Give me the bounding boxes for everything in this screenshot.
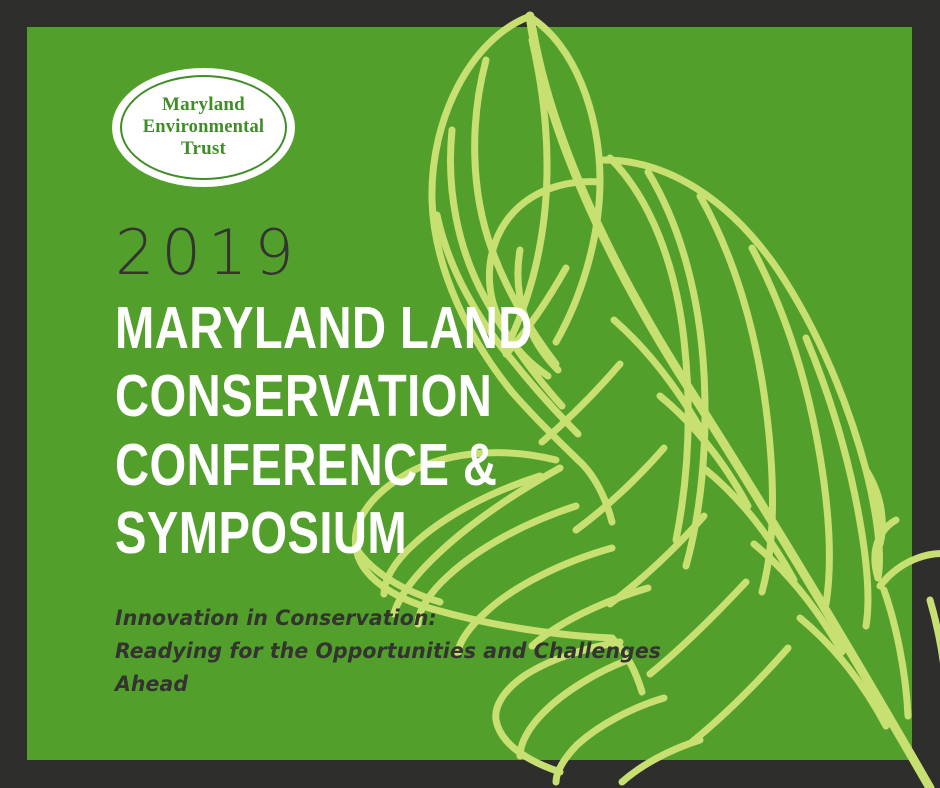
logo-text: Maryland Environmental Trust [113,69,294,186]
event-year: 2019 [115,222,755,284]
event-subtitle: Innovation in Conservation: Readying for… [115,602,723,702]
logo-line-environmental: Environmental [143,117,265,139]
logo-line-maryland: Maryland [162,94,245,116]
poster-canvas: Maryland Environmental Trust 2019 MARYLA… [0,0,940,788]
maryland-environmental-trust-logo: Maryland Environmental Trust [113,69,294,186]
event-title: MARYLAND LAND CONSERVATION CONFERENCE & … [115,294,627,568]
event-text-block: 2019 MARYLAND LAND CONSERVATION CONFEREN… [115,222,755,702]
logo-line-trust: Trust [181,138,226,160]
